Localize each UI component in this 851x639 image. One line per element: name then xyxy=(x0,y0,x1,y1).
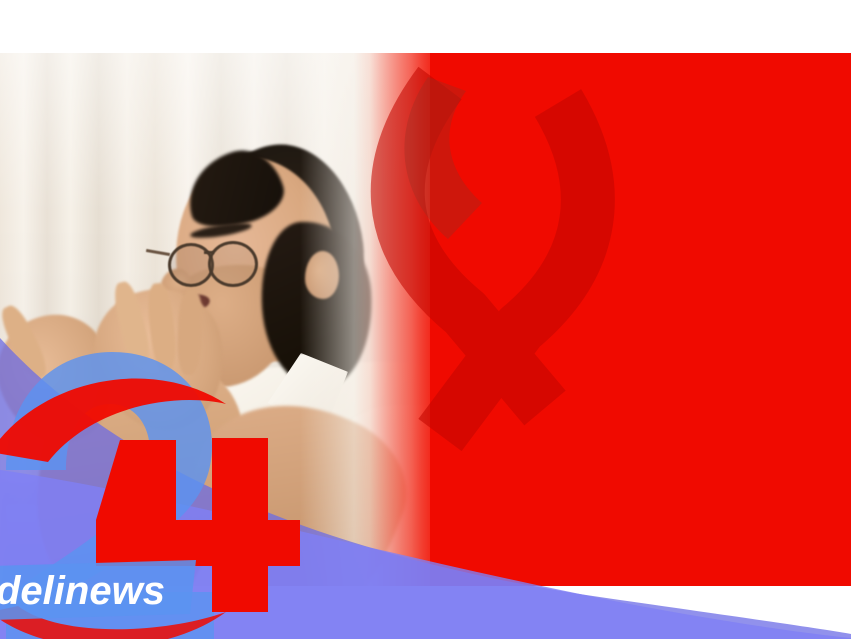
eyeglasses-right-lens xyxy=(208,241,258,287)
aids-ribbon-icon xyxy=(370,53,630,586)
brand-swoosh-lower xyxy=(0,606,226,639)
screenshot-canvas: HARI AIDS SEDUNIA 2025 Bersama Hadapi Pe… xyxy=(0,0,851,639)
news-media-image: HARI AIDS SEDUNIA 2025 Bersama Hadapi Pe… xyxy=(0,53,851,586)
eyeglasses-bridge xyxy=(204,251,214,254)
red-title-panel: HARI AIDS SEDUNIA 2025 Bersama Hadapi Pe… xyxy=(430,53,851,586)
eyeglasses-icon xyxy=(152,239,272,283)
